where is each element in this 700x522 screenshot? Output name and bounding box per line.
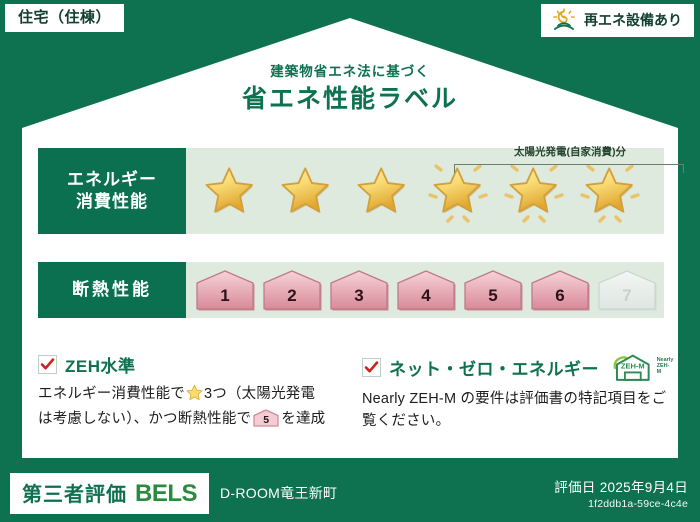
net-zero-energy-checkbox[interactable] — [362, 358, 381, 377]
svg-text:ZEH-M: ZEH-M — [621, 361, 645, 370]
net-zero-energy-description: Nearly ZEH-M の要件は評価書の特記項目をご覧ください。 — [362, 388, 668, 433]
inline-insulation-badge: 5 — [253, 409, 279, 427]
solar-generation-bracket — [454, 164, 684, 173]
energy-performance-row-label: エネルギー 消費性能 — [38, 148, 186, 234]
building-category-label: 住宅（住棟） — [18, 9, 111, 26]
insulation-badge-number: 4 — [421, 286, 430, 311]
zeh-standard-title: ZEH水準 — [65, 352, 136, 377]
renewable-equipment-label: 再エネ設備あり — [584, 10, 682, 30]
insulation-badge-3: 3 — [328, 269, 390, 311]
energy-performance-row: エネルギー 消費性能 太陽光発電(自家消費)分 — [38, 148, 664, 234]
insulation-performance-row-body: 1234567 — [186, 262, 664, 318]
insulation-badge-number: 5 — [488, 286, 497, 311]
bels-certification-chip: 第三者評価 BELS — [10, 473, 209, 514]
zeh-m-logo: ZEH-M Nearly ZEH-M — [612, 352, 674, 382]
bels-japanese-label: 第三者評価 — [22, 478, 127, 507]
zeh-desc-part3: を達成 — [281, 411, 325, 427]
zeh-m-caption-line2: ZEH-M — [657, 363, 670, 375]
zeh-desc-part1: エネルギー消費性能で — [38, 386, 185, 402]
building-category-chip: 住宅（住棟） — [5, 4, 124, 32]
evaluation-id: 1f2ddb1a-59ce-4c4e — [554, 498, 688, 510]
label-subtitle: 建築物省エネ法に基づく — [0, 64, 700, 80]
energy-performance-label: 住宅（住棟） 再エネ設備あり 建築物省エネ法に基づく 省エネ性能ラベル — [0, 0, 700, 522]
insulation-badge-number: 7 — [622, 286, 631, 311]
label-main-title: 省エネ性能ラベル — [0, 84, 700, 114]
zeh-standard-checkbox[interactable] — [38, 355, 57, 374]
inline-star-icon — [186, 384, 203, 408]
insulation-grade-badges: 1234567 — [186, 262, 664, 318]
zeh-desc-part2: は考慮しない）、かつ断熱性能で — [38, 411, 251, 427]
insulation-badge-6: 6 — [529, 269, 591, 311]
net-zero-energy-block: ネット・ゼロ・エネルギー ZEH-M Nearly ZEH-M Nearly Z… — [362, 352, 668, 433]
footer-meta: 評価日 2025年9月4日 1f2ddb1a-59ce-4c4e — [554, 476, 688, 510]
energy-star — [344, 152, 420, 230]
insulation-badge-7: 7 — [596, 269, 658, 311]
energy-label-line2: 消費性能 — [76, 191, 148, 213]
evaluation-date: 評価日 2025年9月4日 — [554, 476, 688, 496]
energy-star — [268, 152, 344, 230]
bels-logo-text: BELS — [135, 480, 197, 508]
zeh-m-logo-caption: Nearly ZEH-M — [657, 358, 674, 375]
sun-renewable-icon — [551, 8, 577, 32]
insulation-badge-number: 3 — [354, 286, 363, 311]
insulation-badge-number: 1 — [220, 286, 229, 311]
insulation-performance-row-label: 断熱性能 — [38, 262, 186, 318]
insulation-badge-number: 6 — [555, 286, 564, 311]
energy-performance-row-body: 太陽光発電(自家消費)分 — [186, 148, 664, 234]
solar-generation-caption: 太陽光発電(自家消費)分 — [454, 147, 686, 159]
energy-label-line1: エネルギー — [67, 169, 157, 191]
net-zero-energy-title: ネット・ゼロ・エネルギー — [389, 355, 599, 380]
project-name: D-ROOM竜王新町 — [220, 483, 337, 503]
insulation-badge-2: 2 — [261, 269, 323, 311]
energy-star — [192, 152, 268, 230]
net-zero-energy-header: ネット・ゼロ・エネルギー ZEH-M Nearly ZEH-M — [362, 352, 668, 382]
insulation-badge-number: 2 — [287, 286, 296, 311]
insulation-badge-5: 5 — [462, 269, 524, 311]
zeh-standard-block: ZEH水準 エネルギー消費性能で 3つ（太陽光発電 は考慮しない）、かつ断熱性能… — [38, 352, 338, 431]
inline-badge-number: 5 — [253, 412, 279, 428]
zeh-standard-description: エネルギー消費性能で 3つ（太陽光発電 は考慮しない）、かつ断熱性能で 5 を達… — [38, 383, 338, 431]
footer-bar: 第三者評価 BELS D-ROOM竜王新町 評価日 2025年9月4日 1f2d… — [0, 464, 700, 522]
insulation-label-text: 断熱性能 — [72, 279, 152, 301]
zeh-standard-header: ZEH水準 — [38, 352, 338, 377]
insulation-badge-4: 4 — [395, 269, 457, 311]
label-title-block: 建築物省エネ法に基づく 省エネ性能ラベル — [0, 64, 700, 114]
renewable-equipment-chip: 再エネ設備あり — [541, 4, 694, 37]
zeh-desc-star-count: 3つ（太陽光発電 — [204, 386, 315, 402]
insulation-badge-1: 1 — [194, 269, 256, 311]
energy-star-rating — [186, 148, 664, 234]
insulation-performance-row: 断熱性能 1234567 — [38, 262, 664, 318]
